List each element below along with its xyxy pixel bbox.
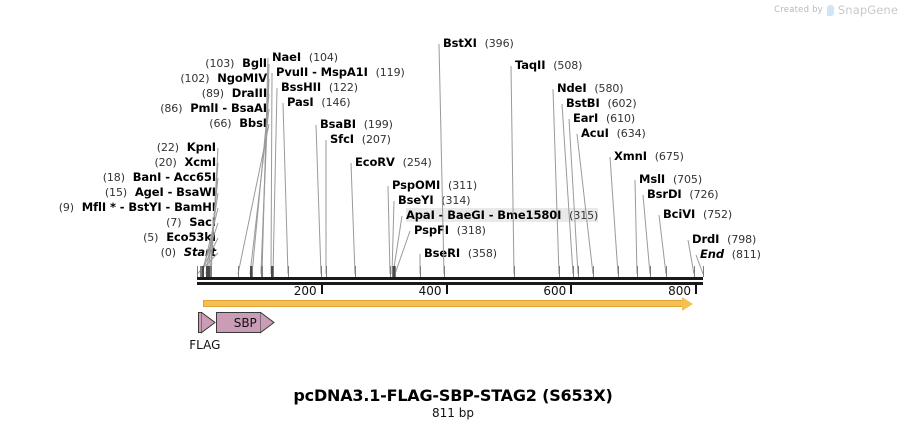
enzyme-position: (634) [617, 127, 646, 140]
ruler-tick [321, 285, 323, 294]
enzyme-position: (314) [441, 194, 470, 207]
enzyme-name: MslI [639, 172, 665, 186]
enzyme-position: (86) [160, 102, 182, 115]
cut-site-tick [578, 266, 579, 277]
enzyme-name: BstYI [128, 200, 161, 214]
enzyme-label-agei[interactable]: (15) AgeI - BsaWI [105, 185, 216, 199]
cut-site-tick [650, 266, 651, 277]
enzyme-position: (18) [103, 171, 125, 184]
enzyme-name: KpnI [187, 140, 216, 154]
enzyme-label-bcivi[interactable]: BciVI (752) [663, 207, 732, 221]
cut-site-tick [273, 266, 274, 277]
enzyme-label-eco53ki[interactable]: (5) Eco53kI [143, 230, 216, 244]
watermark-prefix: Created by [774, 5, 823, 15]
enzyme-name: PvuII [276, 65, 308, 79]
enzyme-position: (104) [309, 51, 338, 64]
cut-site-tick [250, 266, 252, 277]
cut-site-tick [694, 266, 695, 277]
enzyme-name: BbsI [239, 116, 267, 130]
ruler-label: 600 [543, 284, 566, 298]
enzyme-label-pspomi[interactable]: PspOMI (311) [392, 178, 477, 192]
feature-label-sbp: SBP [234, 316, 257, 330]
enzyme-position: (396) [485, 37, 514, 50]
enzyme-label-drdi[interactable]: DrdI (798) [692, 232, 756, 246]
enzyme-position: (311) [448, 179, 477, 192]
snapgene-map-canvas: Created by SnapGene (103) BglI(102) NgoM… [0, 0, 906, 426]
leader-line [511, 66, 514, 274]
sequence-length: 811 bp [0, 406, 906, 420]
leader-line [439, 44, 444, 274]
cut-site-tick [208, 266, 210, 277]
leader-line [562, 104, 573, 274]
enzyme-name: BsaWI [176, 185, 216, 199]
snapgene-watermark: Created by SnapGene [774, 3, 898, 17]
leader-line [316, 125, 321, 274]
enzyme-label-bstxi[interactable]: BstXI (396) [443, 36, 514, 50]
enzyme-position: (315) [569, 209, 598, 222]
enzyme-name: PmlI [190, 101, 218, 115]
enzyme-name: PasI [287, 95, 314, 109]
enzyme-position: (798) [727, 233, 756, 246]
enzyme-name: BanI [133, 170, 162, 184]
leader-line [553, 89, 559, 274]
enzyme-label-bgli[interactable]: (103) BglI [205, 56, 267, 70]
enzyme-label-bsabi[interactable]: BsaBI (199) [320, 117, 393, 131]
enzyme-label-naei[interactable]: NaeI (104) [272, 50, 338, 64]
enzyme-label-taqii[interactable]: TaqII (508) [515, 58, 582, 72]
leader-line [238, 124, 269, 274]
enzyme-label-draiii[interactable]: (89) DraIII [202, 86, 267, 100]
orientation-arrow-bar [203, 300, 683, 307]
watermark-brand: SnapGene [838, 3, 898, 17]
enzyme-position: (675) [655, 150, 684, 163]
enzyme-position: (811) [732, 248, 761, 261]
enzyme-label-bseri[interactable]: BseRI (358) [424, 246, 497, 260]
cut-site-tick [326, 266, 327, 277]
cut-site-tick [593, 266, 594, 277]
enzyme-position: (146) [321, 96, 350, 109]
cut-site-tick [637, 266, 638, 277]
enzyme-label-bsshii[interactable]: BssHII (122) [281, 80, 358, 94]
enzyme-name: PspFI [414, 223, 449, 237]
enzyme-label-kpni[interactable]: (22) KpnI [157, 140, 216, 154]
enzyme-label-pmli[interactable]: (86) PmlI - BsaAI [160, 101, 267, 115]
cut-site-tick [420, 266, 421, 277]
cut-site-tick [262, 266, 263, 277]
feature-arrow-head-outline [260, 312, 276, 334]
enzyme-name: NgoMIV [217, 71, 267, 85]
snapgene-logo-icon [827, 5, 834, 16]
enzyme-position: (9) [59, 201, 74, 214]
enzyme-position: (103) [205, 57, 234, 70]
enzyme-name: ApaI [406, 208, 435, 222]
enzyme-name: TaqII [515, 58, 545, 72]
enzyme-name: PspOMI [392, 178, 440, 192]
cut-site-tick [202, 266, 204, 277]
enzyme-name: AcuI [581, 126, 609, 140]
enzyme-name: MflI * [82, 200, 116, 214]
ruler-tick [446, 285, 448, 294]
enzyme-name: SfcI [330, 132, 354, 146]
enzyme-label-bbsi[interactable]: (66) BbsI [209, 116, 267, 130]
leader-line [635, 180, 637, 274]
enzyme-label-pspfi[interactable]: PspFI (318) [414, 223, 486, 237]
cut-site-tick [210, 266, 211, 277]
enzyme-position: (726) [689, 188, 718, 201]
leader-line [610, 157, 618, 274]
feature-label-flag: FLAG [189, 338, 220, 352]
cut-site-tick [703, 266, 704, 277]
enzyme-position: (20) [154, 156, 176, 169]
cut-site-tick [211, 266, 212, 277]
enzyme-label-pasi[interactable]: PasI (146) [287, 95, 351, 109]
enzyme-position: (602) [607, 97, 636, 110]
enzyme-position: (318) [457, 224, 486, 237]
enzyme-position: (122) [329, 81, 358, 94]
cut-site-tick [197, 266, 198, 277]
enzyme-name: BseRI [424, 246, 460, 260]
enzyme-label-pvuii[interactable]: PvuII - MspA1I (119) [276, 65, 405, 79]
dna-backbone-top [197, 277, 703, 280]
enzyme-name: NaeI [272, 50, 301, 64]
enzyme-name: BstBI [566, 96, 600, 110]
enzyme-position: (207) [362, 133, 391, 146]
enzyme-name: BstXI [443, 36, 477, 50]
cut-site-tick [201, 266, 202, 277]
page-title: pcDNA3.1-FLAG-SBP-STAG2 (S653X) [0, 386, 906, 405]
enzyme-name: BciVI [663, 207, 695, 221]
cut-site-tick [288, 266, 289, 277]
ruler-tick [695, 285, 697, 294]
enzyme-position: (66) [209, 117, 231, 130]
cut-site-tick [321, 266, 322, 277]
enzyme-name: BsaAI [231, 101, 267, 115]
enzyme-position: (15) [105, 186, 127, 199]
cut-site-tick [206, 266, 208, 277]
enzyme-position: (5) [143, 231, 158, 244]
leader-line [577, 134, 593, 274]
enzyme-name: EarI [573, 111, 598, 125]
enzyme-position: (610) [606, 112, 635, 125]
leader-line [273, 88, 277, 274]
enzyme-name: BsaBI [320, 117, 356, 131]
enzyme-label-saci[interactable]: (7) SacI [166, 215, 216, 229]
enzyme-name: BaeGI [447, 208, 485, 222]
cut-site-tick [444, 266, 445, 277]
leader-line [351, 163, 355, 274]
leader-line [643, 195, 650, 274]
enzyme-label-ecorv[interactable]: EcoRV (254) [355, 155, 432, 169]
enzyme-name: NdeI [557, 81, 587, 95]
enzyme-name: BglI [242, 56, 267, 70]
enzyme-name: XcmI [184, 155, 216, 169]
enzyme-name: BsrDI [647, 187, 682, 201]
enzyme-label-msli[interactable]: MslI (705) [639, 172, 702, 186]
enzyme-position: (358) [468, 247, 497, 260]
enzyme-label-bstbi[interactable]: BstBI (602) [566, 96, 637, 110]
enzyme-name: BssHII [281, 80, 321, 94]
cut-site-tick [559, 266, 560, 277]
enzyme-position: (580) [594, 82, 623, 95]
enzyme-position: (254) [403, 156, 432, 169]
enzyme-position: (119) [376, 66, 405, 79]
cut-site-tick [238, 266, 239, 277]
enzyme-label-bseyi[interactable]: BseYI (314) [398, 193, 470, 207]
enzyme-name: XmnI [614, 149, 647, 163]
enzyme-name: DrdI [692, 232, 719, 246]
enzyme-position: (89) [202, 87, 224, 100]
enzyme-position: (199) [364, 118, 393, 131]
enzyme-name: Eco53kI [166, 230, 216, 244]
enzyme-label-end[interactable]: End (811) [700, 247, 761, 261]
enzyme-label-bsrdi[interactable]: BsrDI (726) [647, 187, 719, 201]
enzyme-name: Bme1580I [497, 208, 561, 222]
enzyme-label-start[interactable]: (0) Start [161, 245, 216, 259]
cut-site-tick [666, 266, 667, 277]
cut-site-tick [514, 266, 515, 277]
leader-line [659, 215, 666, 274]
enzyme-name: AgeI [135, 185, 164, 199]
enzyme-label-apai[interactable]: ApaI - BaeGI - Bme1580I (315) [406, 208, 598, 222]
enzyme-label-xmni[interactable]: XmnI (675) [614, 149, 684, 163]
cut-site-tick [252, 266, 253, 277]
orientation-arrow-head-icon [682, 297, 693, 311]
leader-line [283, 103, 288, 274]
enzyme-position: (0) [161, 246, 176, 259]
ruler-label: 400 [419, 284, 442, 298]
enzyme-label-ngomiv[interactable]: (102) NgoMIV [180, 71, 267, 85]
cut-site-tick [395, 266, 396, 277]
cut-site-tick [355, 266, 356, 277]
leader-line [569, 119, 578, 274]
enzyme-name: BamHI [174, 200, 216, 214]
enzyme-position: (7) [166, 216, 181, 229]
enzyme-name: EcoRV [355, 155, 395, 169]
cut-site-tick [200, 266, 201, 277]
enzyme-name: SacI [189, 215, 216, 229]
leader-line [250, 109, 269, 274]
enzyme-label-bani[interactable]: (18) BanI - Acc65I [103, 170, 216, 184]
ruler-tick [570, 285, 572, 294]
leader-line [392, 201, 394, 274]
enzyme-position: (508) [553, 59, 582, 72]
enzyme-position: (102) [180, 72, 209, 85]
leader-line [271, 73, 272, 274]
enzyme-name: MspA1I [321, 65, 368, 79]
enzyme-name: DraIII [232, 86, 267, 100]
enzyme-label-eari[interactable]: EarI (610) [573, 111, 635, 125]
enzyme-position: (22) [157, 141, 179, 154]
cut-site-tick [573, 266, 574, 277]
enzyme-position: (705) [673, 173, 702, 186]
enzyme-label-acui[interactable]: AcuI (634) [581, 126, 646, 140]
cut-site-tick [390, 266, 391, 277]
cut-site-tick [618, 266, 619, 277]
leader-line [395, 231, 410, 274]
ruler-label: 200 [294, 284, 317, 298]
enzyme-name: Start [184, 245, 216, 259]
dna-backbone-bottom [197, 282, 703, 285]
enzyme-label-sfci[interactable]: SfcI (207) [330, 132, 391, 146]
enzyme-position: (752) [703, 208, 732, 221]
enzyme-name: BseYI [398, 193, 434, 207]
enzyme-label-ndei[interactable]: NdeI (580) [557, 81, 623, 95]
enzyme-label-mfli[interactable]: (9) MflI * - BstYI - BamHI [59, 200, 216, 214]
enzyme-label-xcmi[interactable]: (20) XcmI [154, 155, 216, 169]
leader-line [388, 186, 390, 274]
enzyme-name: End [700, 247, 724, 261]
enzyme-name: Acc65I [174, 170, 216, 184]
